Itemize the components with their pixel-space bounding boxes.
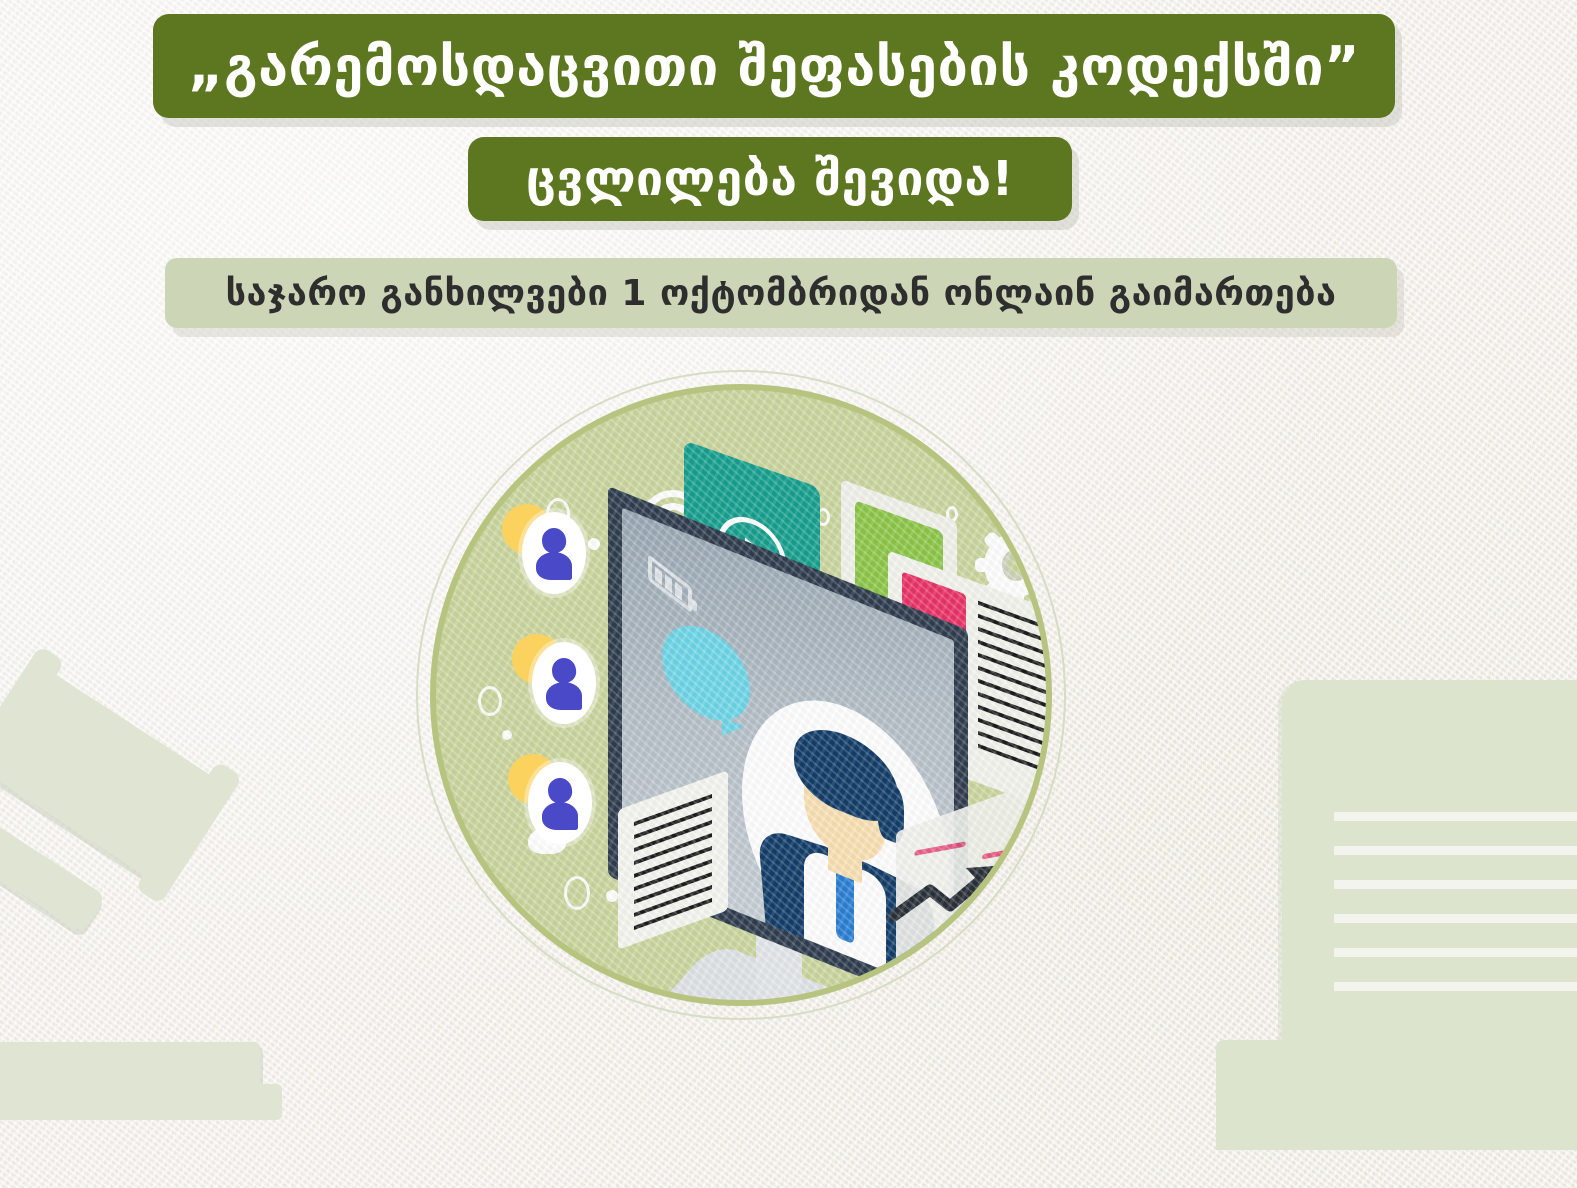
document-watermark <box>1282 680 1577 1150</box>
avatar-body-icon <box>536 552 572 580</box>
online-hearing-illustration <box>416 370 1066 1020</box>
document-text-lines <box>634 794 712 939</box>
participant-avatar-badge <box>522 512 586 594</box>
headline-banner-secondary: ცვლილება შევიდა! <box>468 137 1072 221</box>
document-watermark-fold <box>1216 1040 1302 1150</box>
headline-banner-primary: „გარემოსდაცვითი შეფასების კოდექსში” <box>153 14 1395 118</box>
decorative-dot-icon <box>588 538 600 550</box>
gavel-watermark <box>0 690 380 1120</box>
decorative-bubble-icon <box>478 686 502 716</box>
avatar-body-icon <box>542 802 578 830</box>
chart-dash-icon <box>982 849 1012 860</box>
participant-avatar-badge <box>528 762 592 844</box>
speech-bubble-icon <box>662 612 750 735</box>
chart-dash-icon <box>914 841 966 856</box>
decorative-bubble-icon <box>564 876 590 910</box>
battery-icon <box>648 554 692 614</box>
decorative-dot-icon <box>502 730 512 740</box>
illustration-circle <box>430 384 1052 1006</box>
gavel-sounding-block-icon <box>0 1042 260 1092</box>
trend-arrow-icon <box>888 860 1008 930</box>
avatar-body-icon <box>546 682 582 710</box>
subtitle-banner: საჯარო განხილვები 1 ოქტომბრიდან ონლაინ გ… <box>165 258 1397 328</box>
document-watermark-lines <box>1334 812 1577 1016</box>
participant-avatar-badge <box>532 642 596 724</box>
